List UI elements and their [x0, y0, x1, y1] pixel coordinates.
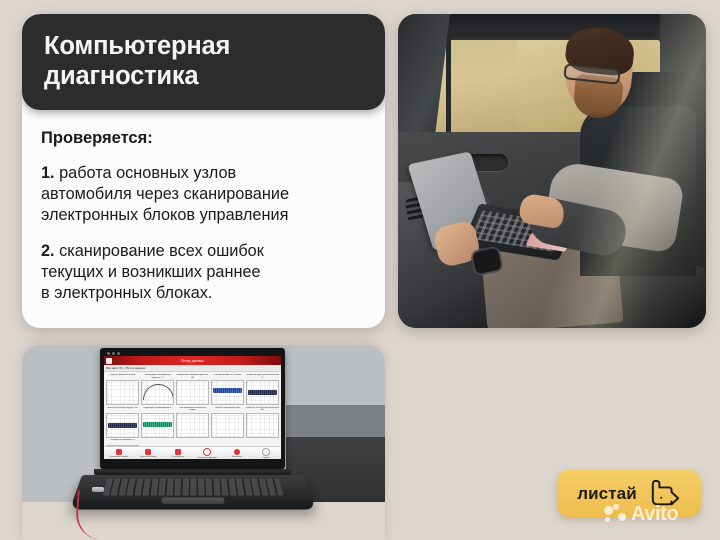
title-block: Компьютерная диагностика: [22, 14, 385, 110]
cta-label: листай: [577, 484, 637, 504]
error-read-icon: [116, 449, 122, 455]
chart-plot: [141, 413, 174, 438]
chart-cell[interactable]: Давление во впускном коллекторе кПа: [246, 407, 279, 438]
list-item: 2. сканирование всех ошибок текущих и во…: [41, 241, 365, 305]
chart-trace: [143, 422, 172, 427]
info-icon: [262, 448, 270, 456]
toolbar-label: Удаление ошибок: [140, 456, 157, 458]
app-window-title: Поток данных: [181, 359, 204, 363]
error-clear-icon: [145, 449, 151, 455]
toolbar-button[interactable]: Удаление ошибок: [134, 449, 164, 458]
chart-plot: [106, 413, 139, 438]
chart-plot: [246, 413, 279, 438]
app-breadcrumb: Все авто V1 > Поток данных: [104, 365, 281, 372]
chart-cell[interactable]: Угол опережения зажигания градус: [176, 407, 209, 438]
os-indicator-icon: [117, 352, 120, 355]
os-indicator-icon: [107, 352, 110, 355]
poster-canvas: Компьютерная диагностика Проверяется: 1.…: [0, 0, 720, 540]
toolbar-label: Считывание ошибок: [109, 456, 128, 458]
chart-plot: [176, 413, 209, 438]
chart-cell[interactable]: Обороты двигателя об/мин: [106, 374, 139, 405]
settings-icon: [234, 449, 240, 455]
list-item: 1. работа основных узлов автомобиля чере…: [41, 163, 365, 227]
chart-plot: [246, 380, 279, 405]
toolbar-label: Сервисные функции: [198, 457, 217, 459]
toolbar-button[interactable]: Сервисные функции: [193, 448, 223, 459]
laptop-software-photo: Поток данных Все авто V1 > Поток данных …: [22, 345, 385, 540]
chart-plot: [211, 413, 244, 438]
app-toolbar: Считывание ошибок Удаление ошибок Поток …: [104, 446, 281, 459]
breadcrumb-text: Все авто V1 > Поток данных: [106, 366, 145, 370]
chart-plot: [176, 380, 209, 405]
laptop-keyboard: [102, 479, 283, 496]
chart-plot: [106, 380, 139, 405]
chart-plot: [141, 380, 174, 405]
chart-trace: [213, 388, 242, 393]
lead-text: Проверяется:: [41, 128, 365, 149]
app-title-bar: Поток данных: [104, 356, 281, 365]
diagnostic-app-window: Поток данных Все авто V1 > Поток данных …: [104, 356, 281, 459]
item-number: 1.: [41, 164, 55, 182]
chart-cell[interactable]: Напряжение лямбда-зонда B1S1 мВ: [176, 374, 209, 405]
chart-trace: [248, 390, 277, 395]
chart-cell[interactable]: Положение дроссельной заслонки %: [246, 374, 279, 405]
chart-plot: [211, 380, 244, 405]
info-card-body: Проверяется: 1. работа основных узлов ав…: [22, 110, 385, 328]
chart-trace: [108, 423, 137, 428]
chart-cell[interactable]: Температура охлаждающей жидкости, °C: [141, 374, 174, 405]
chart-cell[interactable]: Скорость автомобиля км/ч: [211, 407, 244, 438]
page-title: Компьютерная диагностика: [22, 32, 252, 92]
toolbar-label: Настройки: [232, 456, 242, 458]
laptop-base: [70, 475, 316, 509]
chart-cell[interactable]: Коррекция топливоподачи %: [141, 407, 174, 438]
swipe-hand-icon: [649, 479, 681, 509]
item-number: 2.: [41, 242, 55, 260]
swipe-cta-button[interactable]: листай: [557, 470, 701, 517]
chart-arc-trace: [143, 384, 173, 400]
chart-cell[interactable]: Массовый расход воздуха г/сек: [106, 407, 139, 438]
item-text: работа основных узлов автомобиля через с…: [41, 164, 289, 224]
car-interior-photo: [398, 14, 706, 328]
toolbar-label: Поток данных: [171, 456, 184, 458]
toolbar-label: Справка: [262, 457, 270, 459]
info-card: Компьютерная диагностика Проверяется: 1.…: [22, 14, 385, 328]
chart-cell[interactable]: Расход топлива L/h л/100км: [211, 374, 244, 405]
os-indicator-icon: [112, 352, 115, 355]
toolbar-button[interactable]: Настройки: [222, 449, 252, 458]
service-icon: [203, 448, 211, 456]
toolbar-button[interactable]: Считывание ошибок: [104, 449, 134, 458]
toolbar-button[interactable]: Поток данных: [163, 449, 193, 458]
data-stream-icon: [175, 449, 181, 455]
item-text: сканирование всех ошибок текущих и возни…: [41, 242, 264, 302]
app-logo-icon: [106, 358, 112, 364]
toolbar-button[interactable]: Справка: [252, 448, 282, 459]
laptop-backdrop-mid: [286, 405, 385, 437]
laptop-trackpad: [161, 498, 224, 504]
